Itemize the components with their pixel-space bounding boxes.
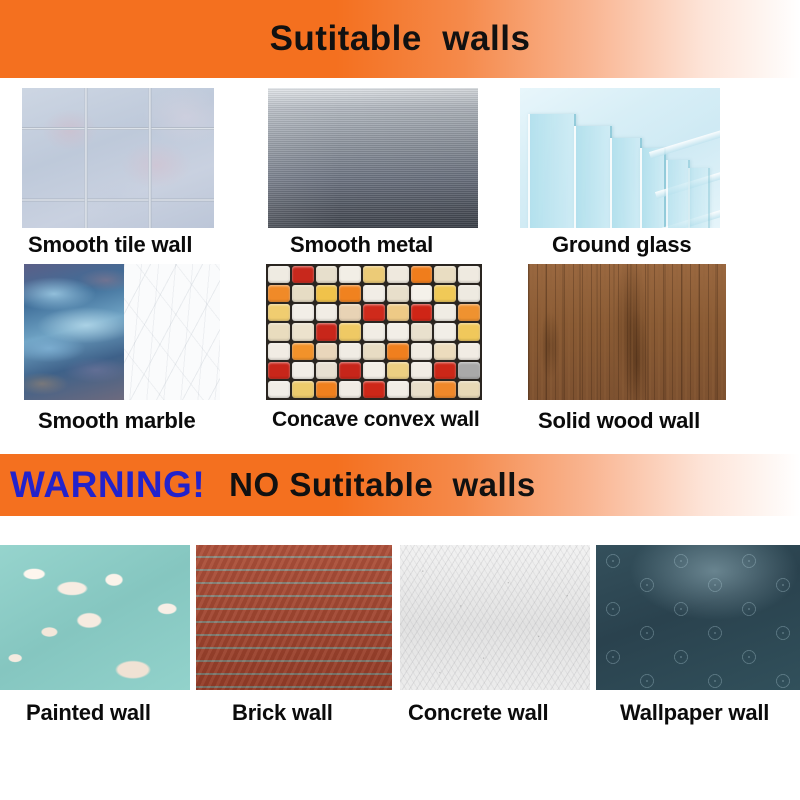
frosted-glass-texture-image xyxy=(520,88,720,228)
brick-texture-image xyxy=(196,545,392,690)
unsuitable-item-label: Brick wall xyxy=(232,700,333,726)
suitable-item-label: Solid wood wall xyxy=(538,408,700,434)
suitable-walls-banner: Sutitable walls xyxy=(0,0,800,78)
suitable-item-label: Smooth metal xyxy=(290,232,433,258)
suitable-item-label: Ground glass xyxy=(552,232,691,258)
concrete-texture-image xyxy=(400,545,590,690)
tile-wall-texture-image xyxy=(22,88,214,228)
suitable-item-label: Smooth marble xyxy=(38,408,196,434)
brushed-metal-texture-image xyxy=(268,88,478,228)
mosaic-tile-texture-image xyxy=(266,264,482,400)
warning-banner: WARNING! NO Sutitable walls xyxy=(0,454,800,516)
suitable-walls-title: Sutitable walls xyxy=(270,19,531,59)
wallpaper-pattern-texture-image xyxy=(596,545,800,690)
peeling-paint-texture-image xyxy=(0,545,190,690)
wood-grain-texture-image xyxy=(528,264,726,400)
suitable-item-label: Concave convex wall xyxy=(272,408,479,432)
marble-texture-image xyxy=(24,264,220,400)
warning-label: WARNING! xyxy=(10,464,205,506)
unsuitable-walls-title: NO Sutitable walls xyxy=(229,466,536,504)
unsuitable-item-label: Painted wall xyxy=(26,700,151,726)
suitable-item-label: Smooth tile wall xyxy=(28,232,192,258)
unsuitable-item-label: Wallpaper wall xyxy=(620,700,769,726)
unsuitable-item-label: Concrete wall xyxy=(408,700,548,726)
